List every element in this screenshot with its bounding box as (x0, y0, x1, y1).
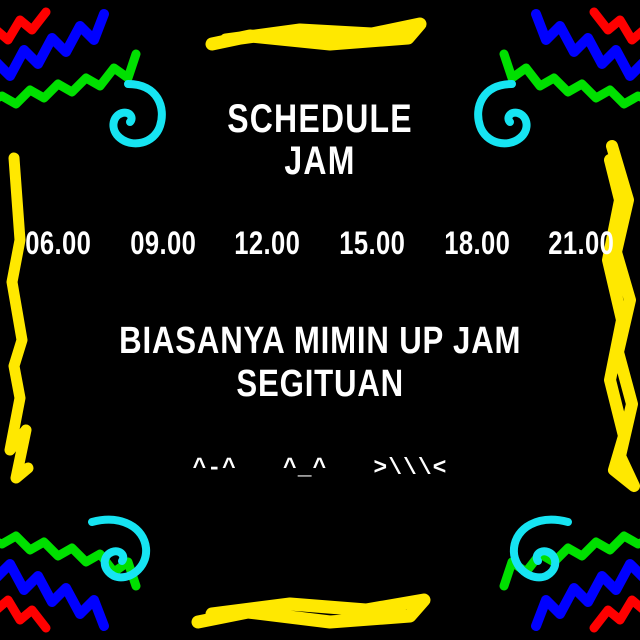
title-block: SCHEDULE JAM (204, 98, 436, 183)
message-line-2: SEGITUAN (119, 363, 521, 407)
time-slot-1: 06.00 (26, 225, 92, 262)
message-block: BIASANYA MIMIN UP JAM SEGITUAN (75, 320, 565, 407)
time-slot-4: 15.00 (339, 225, 405, 262)
emoticon-happy-underscore: ^_^ (283, 455, 327, 481)
time-slot-2: 09.00 (130, 225, 196, 262)
schedule-times-row: 06.00 09.00 12.00 15.00 18.00 21.00 (0, 225, 640, 262)
poster-canvas: SCHEDULE JAM 06.00 09.00 12.00 15.00 18.… (0, 0, 640, 640)
emoticon-blush: >\\\< (373, 455, 447, 481)
emoticon-happy-dash: ^-^ (193, 455, 237, 481)
title-line-jam: JAM (227, 140, 413, 182)
message-line-1: BIASANYA MIMIN UP JAM (119, 320, 521, 364)
emoticon-row: ^-^ ^_^ >\\\< (193, 455, 448, 481)
poster-content: SCHEDULE JAM 06.00 09.00 12.00 15.00 18.… (0, 0, 640, 640)
time-slot-6: 21.00 (548, 225, 614, 262)
title-line-schedule: SCHEDULE (227, 98, 413, 140)
time-slot-3: 12.00 (235, 225, 301, 262)
time-slot-5: 18.00 (444, 225, 510, 262)
